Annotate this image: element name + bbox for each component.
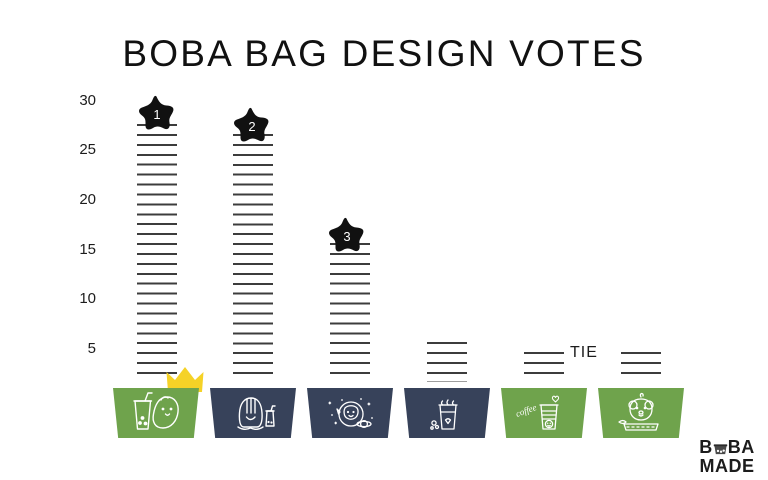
astronaut-bag[interactable] bbox=[307, 388, 393, 438]
rank-badge-2: 2 bbox=[231, 106, 271, 146]
astronaut-space-icon bbox=[307, 388, 393, 438]
rank-badge-3: 3 bbox=[326, 216, 366, 256]
brand-logo-line-1: B BA bbox=[692, 438, 762, 457]
brand-logo-ba: BA bbox=[728, 438, 755, 457]
bar-boba-chick bbox=[137, 124, 177, 382]
bar-ghost bbox=[233, 134, 273, 382]
ghost-character-icon bbox=[210, 388, 296, 438]
bear-bag[interactable] bbox=[598, 388, 684, 438]
bar-astronaut bbox=[330, 243, 370, 382]
coffee-cup-bag[interactable] bbox=[404, 388, 490, 438]
boba-cup-icon bbox=[713, 441, 728, 456]
rank-badge-1: 1 bbox=[136, 94, 176, 134]
rank-badge-2-label: 2 bbox=[231, 106, 271, 146]
chart-canvas: BOBA BAG DESIGN VOTES 30 25 20 15 10 5 1 bbox=[0, 0, 768, 480]
ghost-bag[interactable] bbox=[210, 388, 296, 438]
svg-text:coffee: coffee bbox=[514, 402, 538, 419]
coffee-cup-icon bbox=[404, 388, 490, 438]
tie-label: TIE bbox=[570, 344, 598, 362]
boba-drink-and-chick-icon bbox=[113, 388, 199, 438]
rank-badge-1-label: 1 bbox=[136, 94, 176, 134]
brand-logo: B BA MADE bbox=[692, 438, 762, 476]
boba-chick-bag[interactable] bbox=[113, 388, 199, 438]
rank-badge-3-label: 3 bbox=[326, 216, 366, 256]
coffee-text-bag[interactable]: coffee bbox=[501, 388, 587, 438]
brand-logo-line-2: MADE bbox=[692, 457, 762, 476]
bar-coffee-cup bbox=[427, 342, 467, 382]
coffee-lettering-cup-icon: coffee bbox=[501, 388, 587, 438]
bar-coffee-lettering bbox=[524, 352, 564, 382]
brand-logo-b: B bbox=[699, 438, 713, 457]
plot-area: 1 bbox=[0, 0, 768, 480]
bar-bear bbox=[621, 352, 661, 382]
bear-face-icon bbox=[598, 388, 684, 438]
